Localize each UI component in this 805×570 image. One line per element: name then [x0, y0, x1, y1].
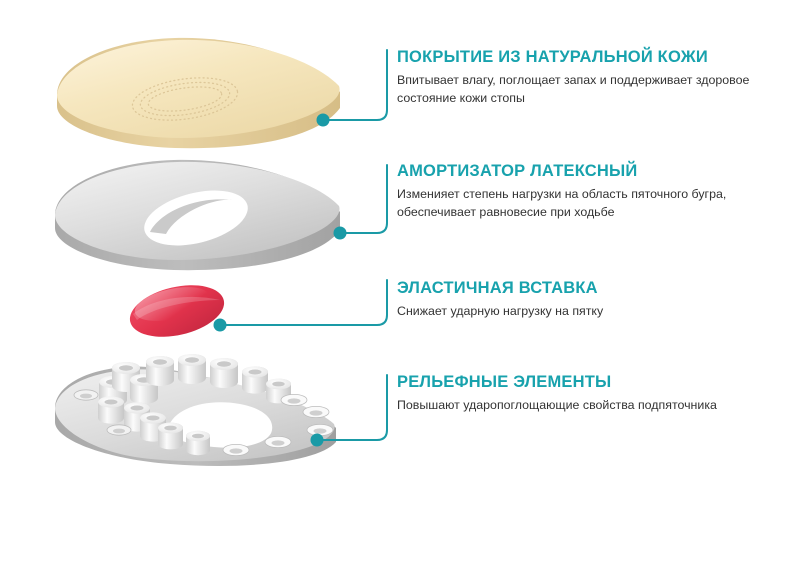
callout-description: Снижает ударную нагрузку на пятку — [397, 303, 757, 321]
callout-title: АМОРТИЗАТОР ЛАТЕКСНЫЙ — [397, 162, 757, 181]
callout-description: Повышают ударопоглощающие свойства подпя… — [397, 397, 757, 415]
connector-dot-2 — [334, 227, 347, 240]
leather-layer-icon — [57, 38, 340, 148]
callout-elastic-insert: ЭЛАСТИЧНАЯ ВСТАВКА Снижает ударную нагру… — [397, 279, 757, 321]
callout-title: РЕЛЬЕФНЫЕ ЭЛЕМЕНТЫ — [397, 373, 757, 392]
connector-dot-4 — [311, 434, 324, 447]
connector-dot-3 — [214, 319, 227, 332]
connector-line-2 — [340, 165, 387, 233]
callout-leather-cover: ПОКРЫТИЕ ИЗ НАТУРАЛЬНОЙ КОЖИ Впитывает в… — [397, 48, 757, 107]
latex-layer-icon — [55, 160, 340, 270]
elastic-insert-icon — [125, 277, 229, 345]
callout-relief-elements: РЕЛЬЕФНЫЕ ЭЛЕМЕНТЫ Повышают ударопоглоща… — [397, 373, 757, 415]
callout-description: Изменияет степень нагрузки на область пя… — [397, 186, 757, 221]
connector-dot-1 — [317, 114, 330, 127]
relief-layer-icon — [55, 354, 336, 466]
callout-description: Впитывает влагу, поглощает запах и подде… — [397, 72, 757, 107]
callout-latex-absorber: АМОРТИЗАТОР ЛАТЕКСНЫЙ Изменияет степень … — [397, 162, 757, 221]
callout-title: ПОКРЫТИЕ ИЗ НАТУРАЛЬНОЙ КОЖИ — [397, 48, 757, 67]
callout-title: ЭЛАСТИЧНАЯ ВСТАВКА — [397, 279, 757, 298]
insole-layers-diagram: ПОКРЫТИЕ ИЗ НАТУРАЛЬНОЙ КОЖИ Впитывает в… — [0, 0, 805, 570]
connector-line-3 — [220, 280, 387, 325]
